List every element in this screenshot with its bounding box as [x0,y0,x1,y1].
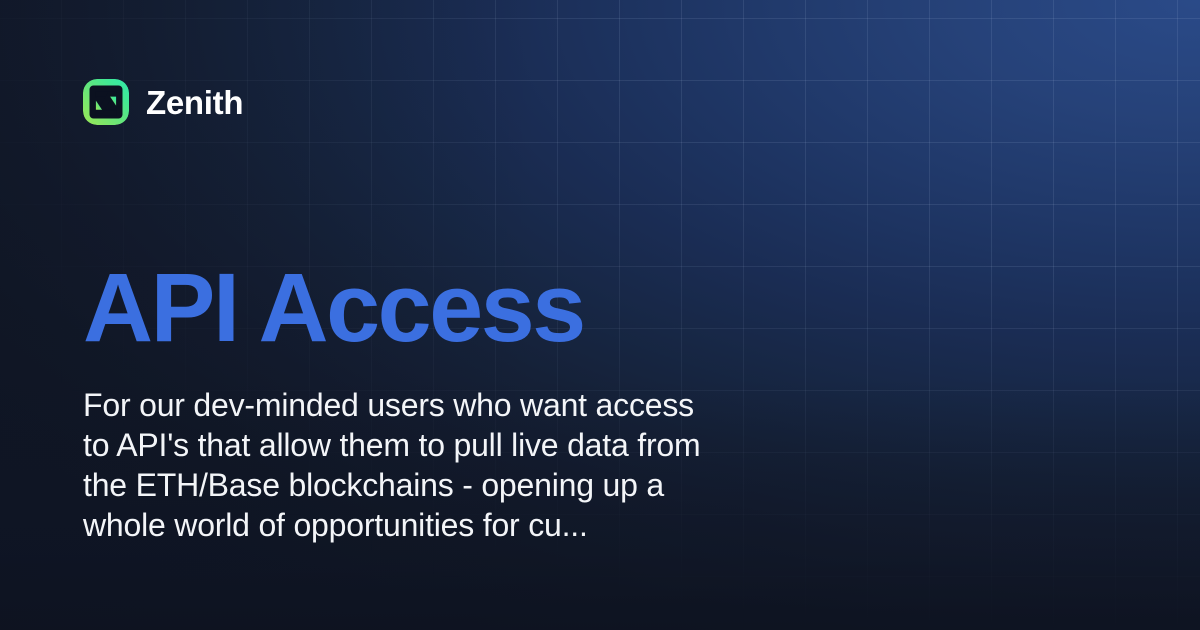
description-line: the ETH/Base blockchains - opening up a [83,465,883,505]
description-line: For our dev-minded users who want access [83,385,883,425]
page-description: For our dev-minded users who want access… [83,385,883,545]
zenith-z-logo-icon [83,79,129,125]
description-line: whole world of opportunities for cu... [83,505,883,545]
brand-name: Zenith [146,86,243,119]
brand-lockup: Zenith [83,79,243,125]
card-content: Zenith API Access For our dev-minded use… [0,0,1200,630]
description-line: to API's that allow them to pull live da… [83,425,883,465]
page-title: API Access [83,259,584,356]
og-preview-card: Zenith API Access For our dev-minded use… [0,0,1200,630]
